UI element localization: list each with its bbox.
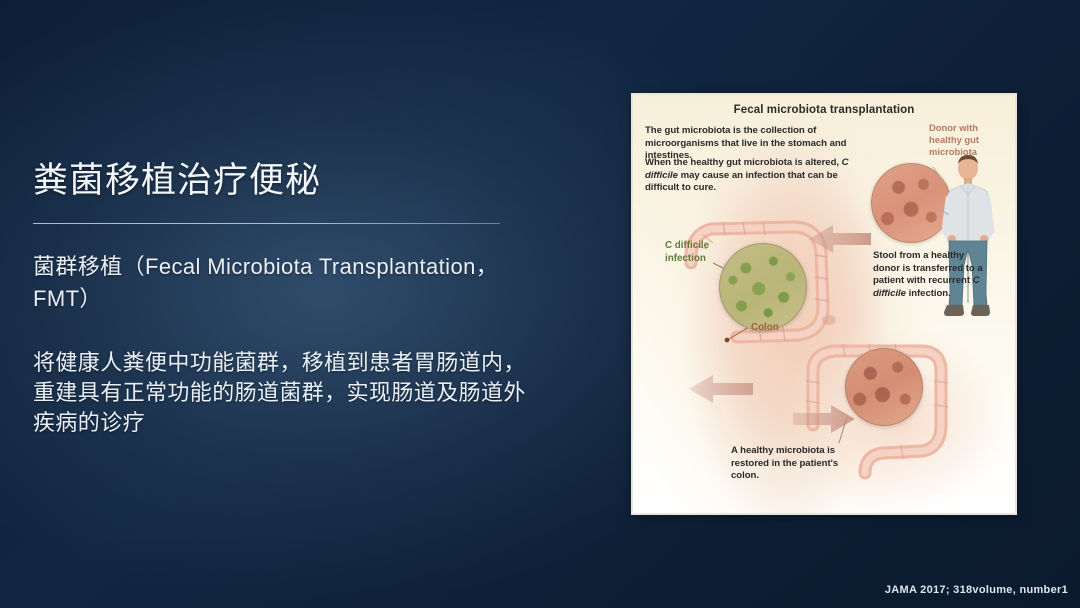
citation-text: JAMA 2017; 318volume, number1 [885, 584, 1068, 596]
definition-line: FMT） [33, 283, 603, 314]
figure-illustration: Fecal microbiota transplantation The gut… [633, 95, 1015, 513]
donor-label: Donor with healthy gut microbiota [929, 122, 1001, 159]
stool-transfer-paragraph: Stool from a healthy donor is transferre… [873, 250, 993, 300]
description-block: 将健康人粪便中功能菌群，移植到患者胃肠道内， 重建具有正常功能的肠道菌群，实现肠… [33, 348, 603, 438]
transfer-part2: infection. [909, 288, 951, 299]
description-line: 疾病的诊疗 [33, 408, 603, 438]
c-difficile-magnifier [719, 243, 807, 331]
healthy-microbiota-magnifier [845, 348, 923, 426]
figure-panel: Fecal microbiota transplantation The gut… [631, 93, 1017, 515]
slide-canvas: 粪菌移植治疗便秘 菌群移植（Fecal Microbiota Transplan… [0, 0, 1080, 608]
transfer-part1: Stool from a healthy donor is transferre… [873, 250, 983, 286]
title-divider [33, 223, 500, 224]
figure-title: Fecal microbiota transplantation [633, 104, 1015, 116]
cdiff-para-part1: When the healthy gut microbiota is alter… [645, 157, 839, 168]
definition-block: 菌群移植（Fecal Microbiota Transplantation， F… [33, 251, 603, 313]
description-line: 将健康人粪便中功能菌群，移植到患者胃肠道内， [33, 348, 603, 378]
cdifficile-infection-label: C difficile infection [665, 240, 731, 265]
restored-microbiota-paragraph: A healthy microbiota is restored in the … [731, 445, 841, 483]
page-title: 粪菌移植治疗便秘 [33, 160, 603, 201]
figure-cdifficile-paragraph: When the healthy gut microbiota is alter… [645, 157, 853, 195]
description-line: 重建具有正常功能的肠道菌群，实现肠道及肠道外 [33, 378, 603, 408]
definition-line: 菌群移植（Fecal Microbiota Transplantation， [33, 251, 603, 282]
content-column: 粪菌移植治疗便秘 菌群移植（Fecal Microbiota Transplan… [33, 160, 603, 437]
colon-label: Colon [751, 322, 779, 333]
